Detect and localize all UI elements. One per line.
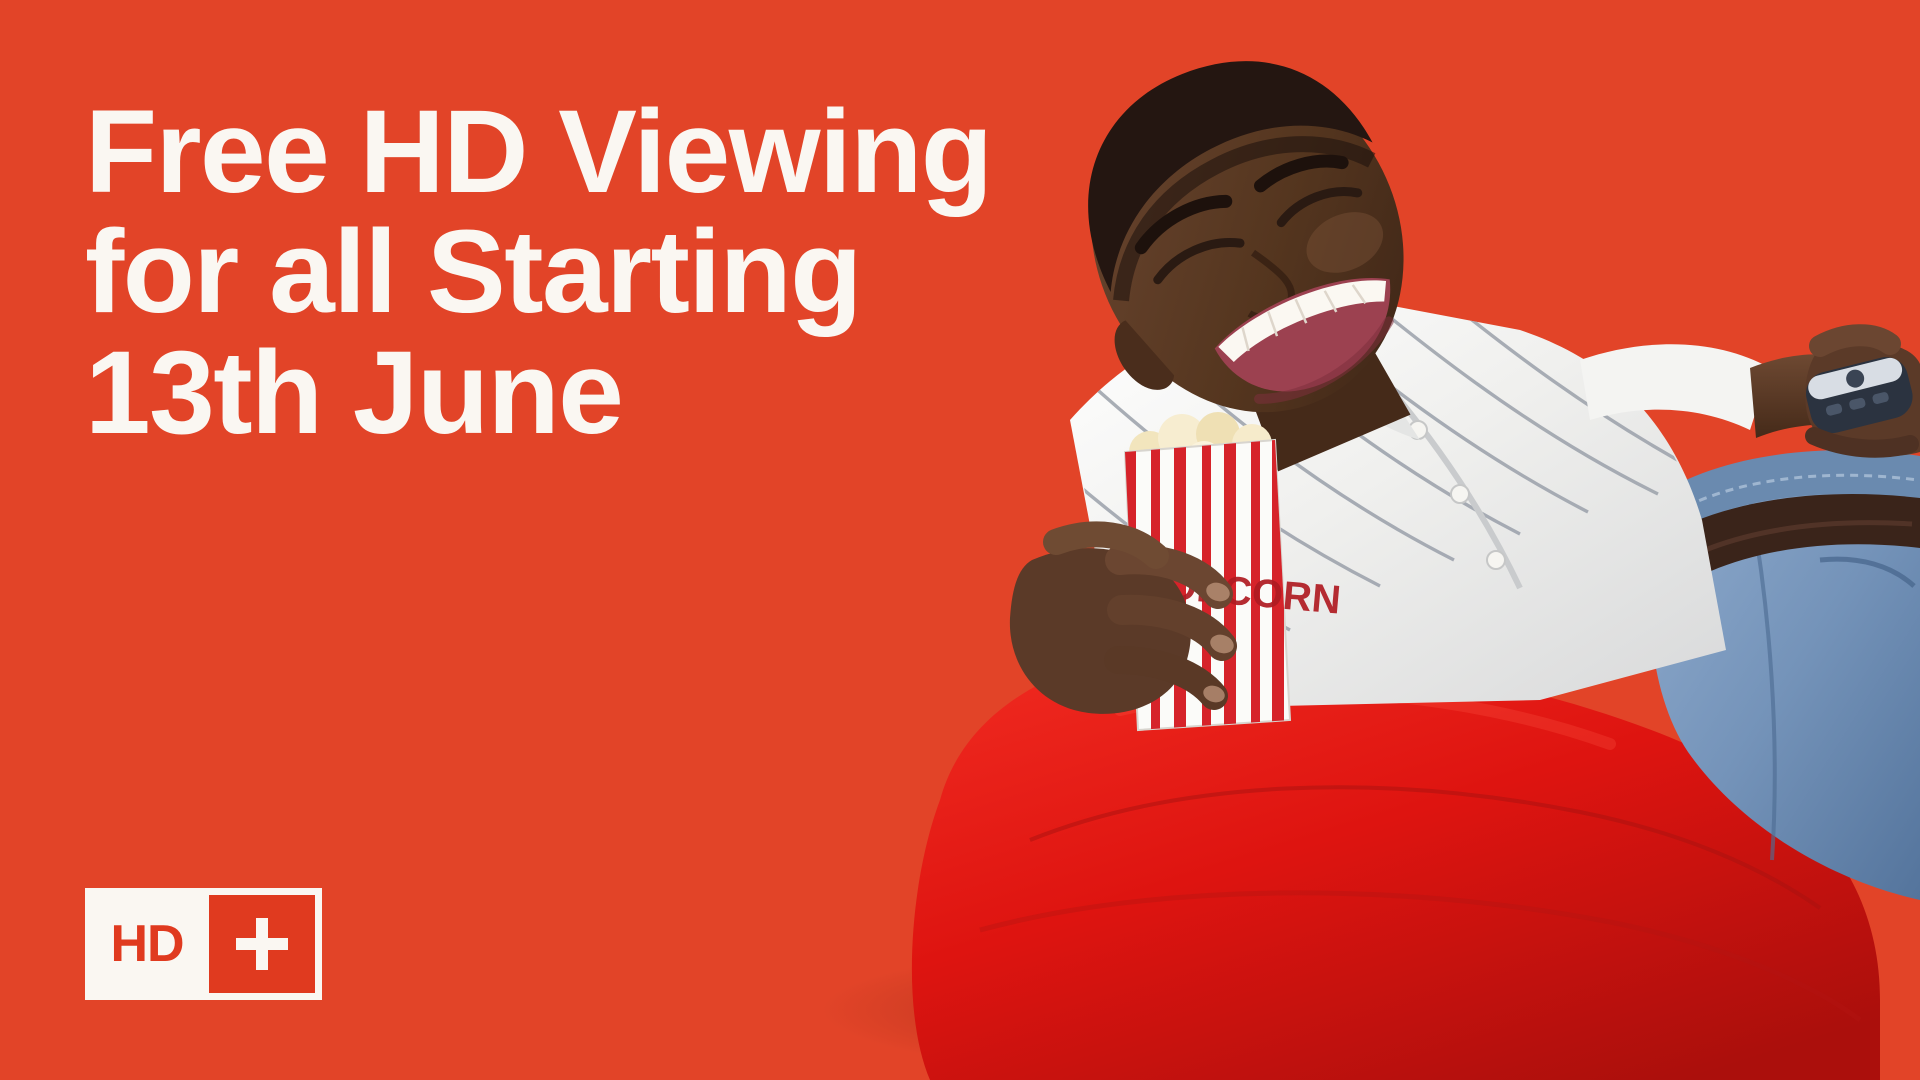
headline: Free HD Viewing for all Starting 13th Ju… [85,92,1165,453]
headline-line-1: Free HD Viewing [85,92,1165,212]
logo-plus-panel [209,895,315,993]
hand-with-remote [1801,335,1920,456]
hd-plus-logo: HD [85,888,322,1000]
hand-holding-popcorn [1010,534,1236,713]
headline-line-3: 13th June [85,333,1165,453]
shirt-button [1487,551,1505,569]
logo-hd-text: HD [110,918,183,970]
plus-icon [236,918,288,970]
headline-line-2: for all Starting [85,212,1165,332]
promo-banner: POPCORN Free HD Viewing for all Starting… [0,0,1920,1080]
shirt-button [1451,485,1469,503]
thumb [1820,335,1890,346]
logo-hd-panel: HD [85,888,209,1000]
